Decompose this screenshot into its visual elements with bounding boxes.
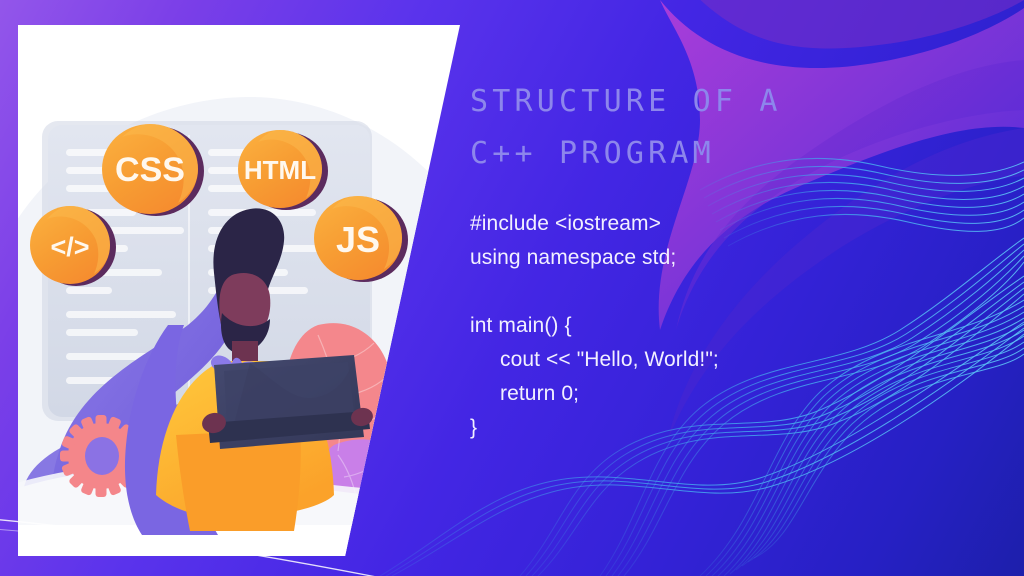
css-badge-label: CSS [115,151,185,189]
code-block: #include <iostream>using namespace std; … [470,207,940,445]
code-line-0: #include <iostream> [470,207,940,241]
illustration-card: CSS HTML JS [18,25,460,556]
html-badge-label: HTML [244,155,316,185]
code-tag-badge-label: </> [50,232,89,262]
code-line-5: return 0; [470,377,940,411]
slide-title: Structure of a C++ program [470,76,870,179]
content-column: Structure of a C++ program #include <ios… [470,76,940,445]
laptop [208,355,370,449]
code-line-2 [470,275,940,309]
code-line-4: cout << "Hello, World!"; [470,343,940,377]
developer-illustration: CSS HTML JS [18,25,460,556]
code-line-3: int main() { [470,309,940,343]
js-badge-label: JS [336,219,380,260]
code-line-6: } [470,411,940,445]
slide-canvas: CSS HTML JS [0,0,1024,576]
code-line-1: using namespace std; [470,241,940,275]
